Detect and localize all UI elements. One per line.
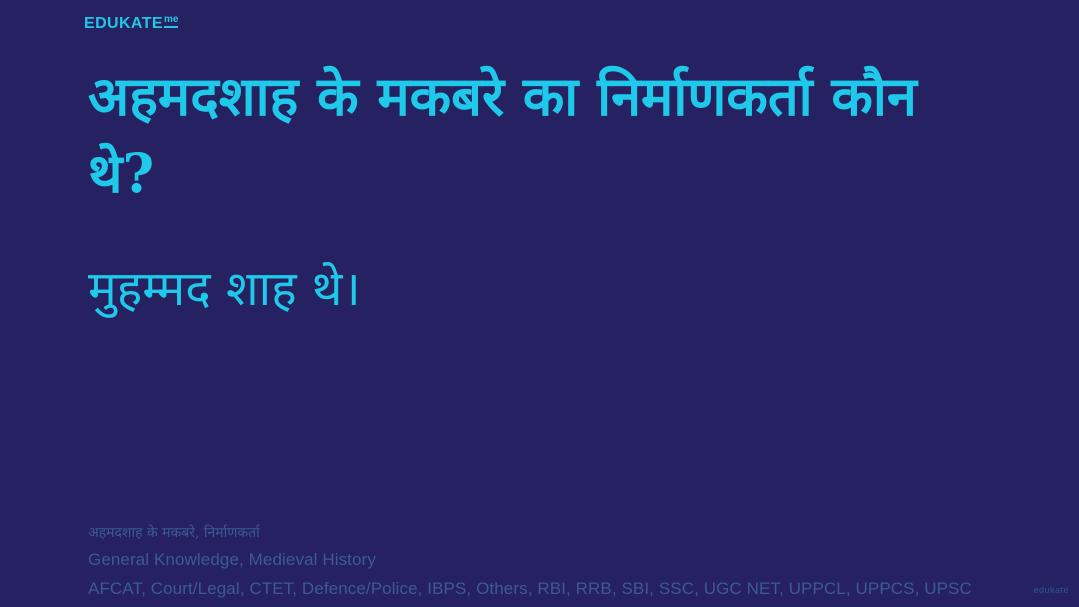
footer-metadata: अहमदशाह के मकबरे, निर्माणकर्ता General K…	[88, 525, 1048, 599]
footer-exams: AFCAT, Court/Legal, CTET, Defence/Police…	[88, 579, 1048, 599]
brand-logo[interactable]: EDUKATE me	[84, 16, 178, 32]
slide-canvas: EDUKATE me अहमदशाह के मकबरे का निर्माणकर…	[0, 0, 1079, 607]
question-text: अहमदशाह के मकबरे का निर्माणकर्ता कौन थे?	[88, 58, 988, 211]
corner-watermark: edukate	[1033, 585, 1069, 595]
answer-text: मुहम्मद शाह थे।	[88, 258, 988, 320]
footer-categories: General Knowledge, Medieval History	[88, 550, 1048, 570]
footer-tags-hindi: अहमदशाह के मकबरे, निर्माणकर्ता	[88, 525, 1048, 542]
brand-logo-suffix: me	[164, 15, 178, 28]
brand-logo-word: EDUKATE	[84, 16, 163, 32]
